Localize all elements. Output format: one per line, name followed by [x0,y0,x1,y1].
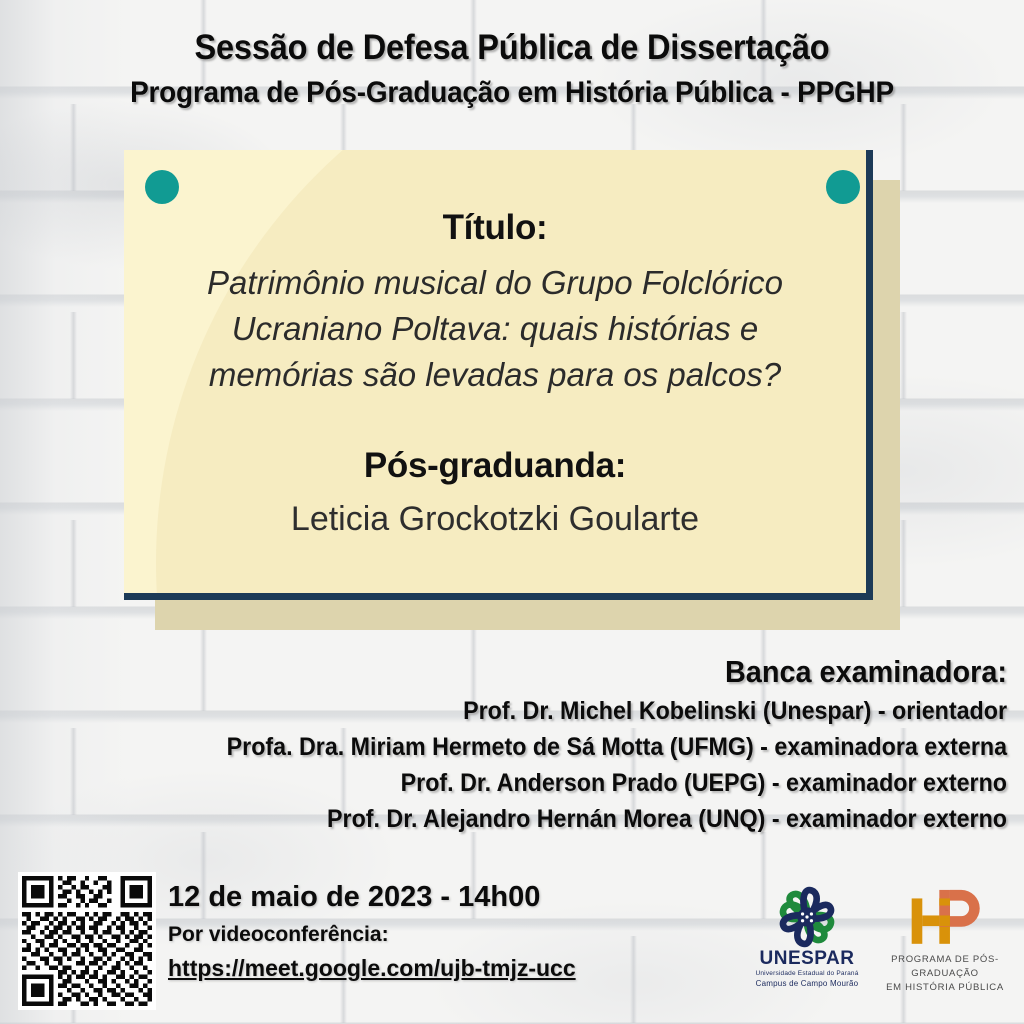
dissertation-title: Patrimônio musical do Grupo Folclórico U… [164,260,826,398]
teal-dot-left-icon [145,170,179,204]
card-content: Título: Patrimônio musical do Grupo Folc… [124,208,866,542]
presentation-card: Título: Patrimônio musical do Grupo Folc… [124,150,873,600]
graduand-label: Pós-graduanda: [164,446,826,486]
poster-header: Sessão de Defesa Pública de Dissertação … [0,26,1024,113]
event-details: 12 de maio de 2023 - 14h00 Por videoconf… [168,878,576,984]
qr-code-icon[interactable] [18,872,156,1010]
hp-monogram-icon [906,888,984,950]
title-label: Título: [164,208,826,248]
teal-dot-right-icon [826,170,860,204]
committee-heading: Banca examinadora: [77,652,1007,692]
unespar-flower-icon [770,886,844,948]
committee-member: Prof. Dr. Anderson Prado (UEPG) - examin… [77,766,1007,800]
committee-member: Prof. Dr. Michel Kobelinski (Unespar) - … [77,694,1007,728]
committee-section: Banca examinadora: Prof. Dr. Michel Kobe… [7,652,1007,836]
committee-member: Profa. Dra. Miriam Hermeto de Sá Motta (… [77,730,1007,764]
event-date: 12 de maio de 2023 - 14h00 [168,878,576,916]
committee-member: Prof. Dr. Alejandro Hernán Morea (UNQ) -… [77,802,1007,836]
event-mode-label: Por videoconferência: [168,920,576,950]
header-title-line-1: Sessão de Defesa Pública de Dissertação [36,26,988,70]
unespar-subtitle-1: Universidade Estadual do Paraná [752,969,862,978]
unespar-logo: UNESPAR Universidade Estadual do Paraná … [752,886,862,989]
unespar-wordmark: UNESPAR [752,949,862,969]
unespar-subtitle-2: Campus de Campo Mourão [752,978,862,989]
graduand-name: Leticia Grockotzki Goularte [164,496,826,542]
hp-subtitle-1: PROGRAMA DE PÓS-GRADUAÇÃO [870,953,1020,981]
hp-subtitle-2: EM HISTÓRIA PÚBLICA [870,981,1020,995]
meet-link[interactable]: https://meet.google.com/ujb-tmjz-ucc [168,952,576,984]
header-title-line-2: Programa de Pós-Graduação em História Pú… [36,73,988,113]
hp-logo: PROGRAMA DE PÓS-GRADUAÇÃO EM HISTÓRIA PÚ… [870,888,1020,995]
qr-code-glyph [22,876,152,1006]
